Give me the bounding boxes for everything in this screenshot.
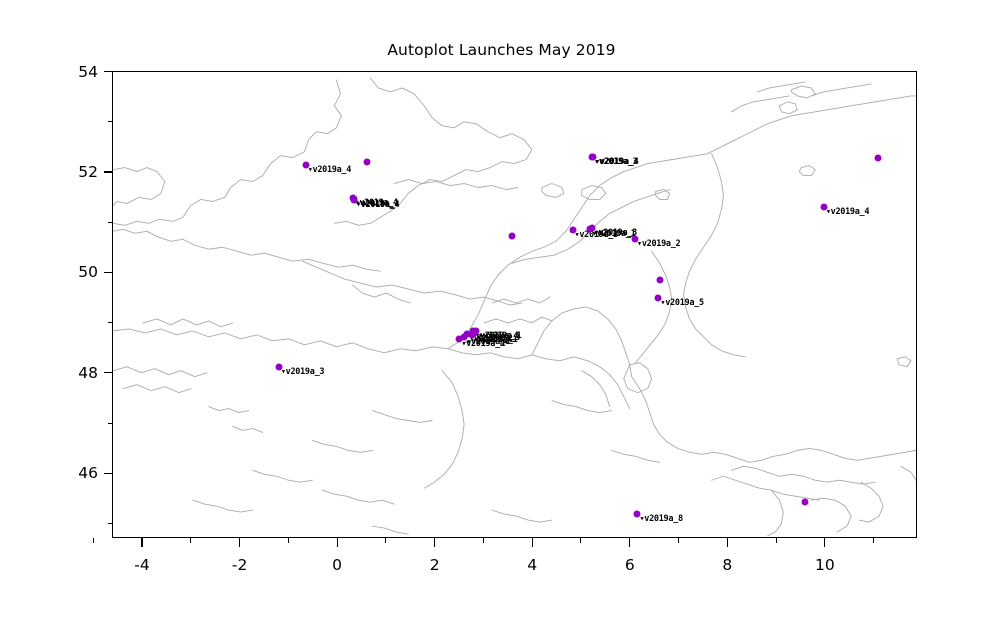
y-tick-major — [104, 473, 113, 474]
y-tick-minor — [108, 423, 113, 424]
x-tick-minor — [190, 538, 191, 543]
x-tick-label: 10 — [815, 556, 835, 574]
coastline-layer — [113, 72, 916, 537]
point-label: ▾v2019a_4 — [356, 200, 399, 210]
y-tick-label: 52 — [58, 163, 98, 181]
x-tick-label: 8 — [722, 556, 732, 574]
point-label: ▾v2019a_8 — [639, 514, 682, 524]
y-tick-minor — [108, 523, 113, 524]
x-tick-minor — [873, 538, 874, 543]
x-tick-major — [239, 538, 240, 547]
point-label: ▾v2019a_6 — [466, 337, 509, 347]
x-tick-major — [824, 538, 825, 547]
scatter-point[interactable] — [363, 158, 370, 165]
x-tick-major — [141, 538, 142, 547]
point-label: ▾v2019a_1 — [592, 229, 635, 239]
point-label: ▾v2019a_3 — [281, 367, 324, 377]
y-tick-major — [104, 372, 113, 373]
x-tick-label: -4 — [134, 556, 149, 574]
x-tick-minor — [776, 538, 777, 543]
y-tick-major — [104, 171, 113, 172]
figure-canvas: Autoplot Launches May 2019 — [0, 0, 1003, 633]
x-tick-major — [629, 538, 630, 547]
y-tick-label: 46 — [58, 464, 98, 482]
x-tick-label: 4 — [527, 556, 537, 574]
y-tick-minor — [108, 121, 113, 122]
x-tick-label: 2 — [430, 556, 440, 574]
point-label: ▾v2019a_4 — [308, 165, 351, 175]
y-tick-major — [104, 71, 113, 72]
point-label: ▾v2019a_4 — [826, 207, 869, 217]
point-label: ▾v2019a_2 — [637, 239, 680, 249]
x-tick-label: 6 — [625, 556, 635, 574]
y-tick-label: 54 — [58, 63, 98, 81]
scatter-point[interactable] — [874, 154, 881, 161]
x-tick-minor — [93, 538, 94, 543]
scatter-point[interactable] — [509, 232, 516, 239]
point-label: ▾v2019a_5 — [660, 298, 703, 308]
x-tick-minor — [288, 538, 289, 543]
map-axes[interactable] — [112, 71, 917, 538]
y-tick-label: 50 — [58, 263, 98, 281]
x-tick-major — [532, 538, 533, 547]
y-tick-minor — [108, 222, 113, 223]
y-tick-minor — [108, 322, 113, 323]
x-tick-major — [727, 538, 728, 547]
chart-title: Autoplot Launches May 2019 — [0, 41, 1003, 59]
scatter-point[interactable] — [656, 276, 663, 283]
x-tick-major — [337, 538, 338, 547]
x-tick-minor — [483, 538, 484, 543]
x-tick-minor — [385, 538, 386, 543]
x-tick-minor — [678, 538, 679, 543]
y-tick-label: 48 — [58, 364, 98, 382]
x-tick-label: 0 — [332, 556, 342, 574]
x-tick-major — [434, 538, 435, 547]
point-label: ▾v2019a_3 — [594, 157, 637, 167]
x-tick-label: -2 — [232, 556, 247, 574]
scatter-point[interactable] — [802, 499, 809, 506]
y-tick-major — [104, 272, 113, 273]
x-tick-minor — [580, 538, 581, 543]
